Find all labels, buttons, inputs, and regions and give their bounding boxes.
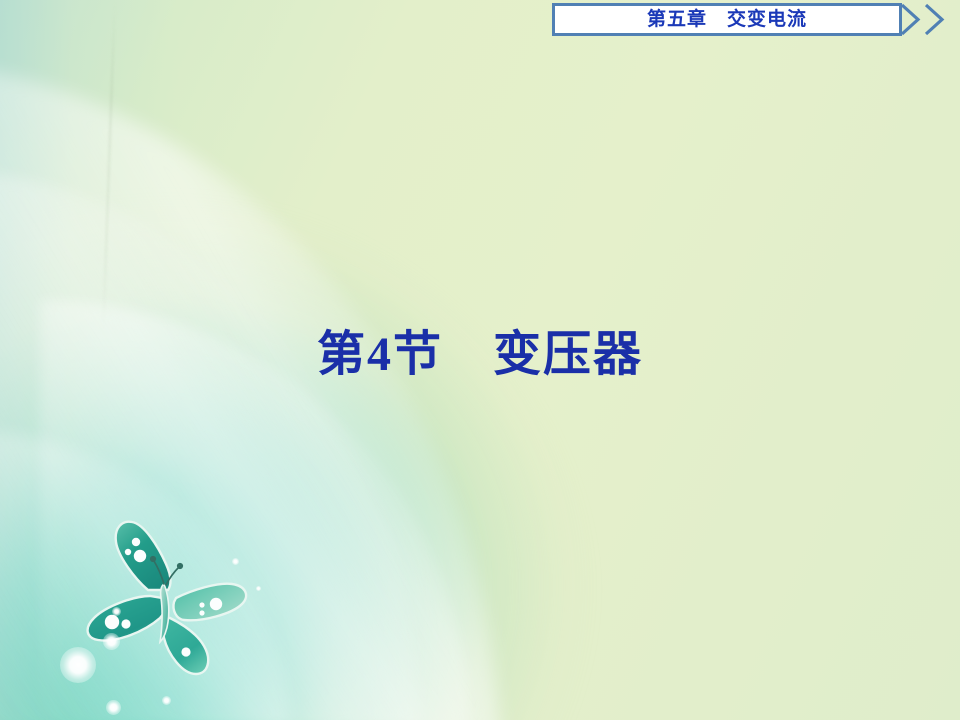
page-title: 第4节 变压器	[0, 326, 960, 384]
presentation-slide: 第五章 交变电流 第4节 变压器	[0, 0, 960, 720]
butterfly-wing-upper-right	[173, 584, 246, 621]
chapter-banner-label: 第五章 交变电流	[647, 10, 807, 29]
butterfly-wing-lower-left	[88, 596, 165, 640]
butterfly-wing-lower-right	[163, 618, 208, 674]
chevron-right-icon	[926, 5, 942, 34]
butterfly-illustration	[78, 512, 263, 692]
chevron-arrows-group	[900, 3, 960, 36]
chevron-right-icon	[902, 5, 918, 34]
chapter-banner: 第五章 交变电流	[552, 3, 902, 36]
butterfly-antenna-tip	[177, 563, 183, 569]
butterfly-antenna-tip	[150, 556, 156, 562]
